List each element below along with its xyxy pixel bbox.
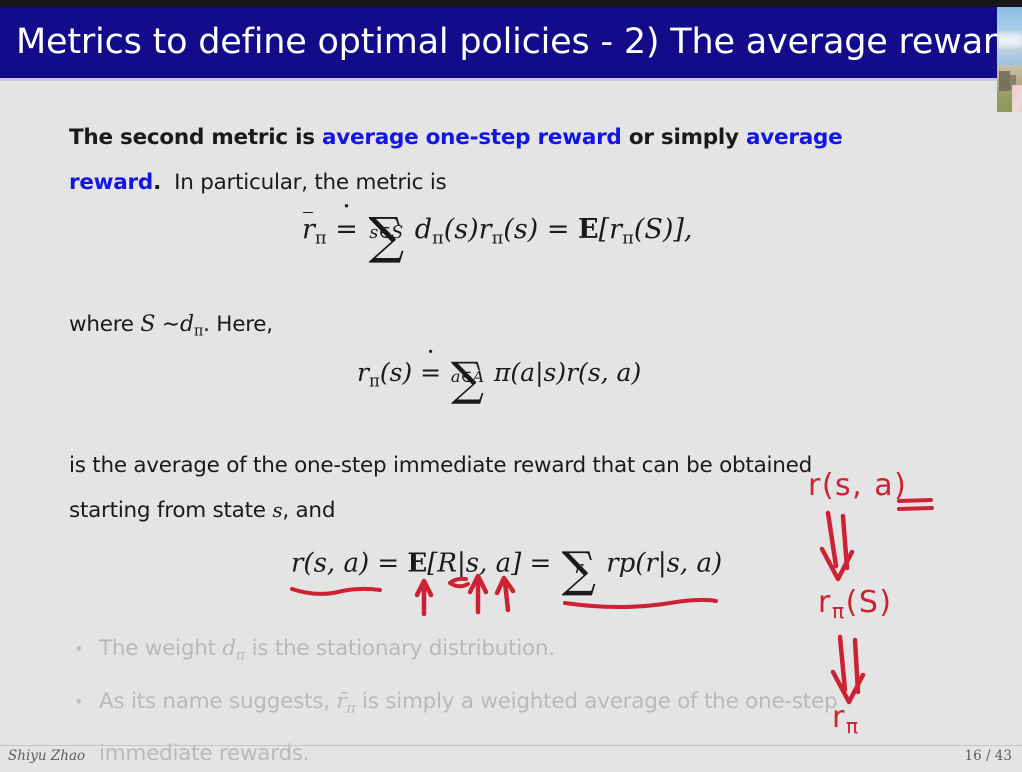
bullet-1-pre: The weight [99,636,222,661]
footer-author: Shiyu Zhao [8,748,85,764]
eq1-expect-tail: (S)], [634,214,693,245]
eq1-lhs-sub: π [315,228,327,249]
slide-content: The second metric is average one-step re… [0,81,1022,745]
intro-period: . [153,170,161,195]
where-var-d: dπ [180,312,203,337]
where-prefix: where [69,312,140,337]
equation-state-reward: rπ(s) = ∑a∈A π(a|s)r(s, a) [357,352,641,406]
eq2-reward-term: r(s, a) [566,358,641,387]
paragraph-intro: The second metric is average one-step re… [69,115,949,205]
eq2-relation: = [420,358,441,387]
eq3-summation-symbol: ∑r [562,542,596,598]
eq3-sum-limit: r [575,557,583,577]
title-bar: Metrics to define optimal policies - 2) … [0,7,997,78]
where-var-S: S [140,312,155,337]
paragraph-where: where S ∼dπ. Here, [69,302,569,355]
eq1-relation: = [335,214,358,245]
explanation-line2-post: , and [282,498,335,523]
eq2-sum-limit: a∈A [451,367,484,386]
eq1-term2-sub: π [492,228,504,249]
eq3-rhs: rp(r|s, a) [606,549,722,579]
list-item: The weight dπ is the stationary distribu… [69,626,949,679]
eq3-equals-2: = [530,549,552,579]
eq1-lhs: r [302,214,315,245]
bullet-1-post: is the stationary distribution. [245,636,555,661]
equation-average-reward: rπ = ∑s∈S dπ(s)rπ(s) = E[rπ(S)], [302,207,693,265]
eq2-lhs-arg: (s) [380,358,412,387]
eq1-equals: = [547,214,570,245]
top-black-strip [0,0,1022,7]
bullet-2-var: r̄ [336,689,346,714]
eq2-lhs-sub: π [369,371,380,390]
eq1-expectation-symbol: E [578,214,599,245]
footer-divider [0,745,1022,746]
eq2-lhs: r [357,358,369,387]
eq2-summation-symbol: ∑a∈A [451,352,484,406]
eq2-policy-term: π(a|s) [494,358,566,387]
eq1-term2-arg: (s) [503,214,538,245]
where-tilde: ∼ [162,312,180,337]
photo-cloud-region [997,33,1022,47]
paragraph-explanation: is the average of the one-step immediate… [69,443,949,533]
bullet-list: The weight dπ is the stationary distribu… [69,626,949,772]
slide-canvas: Metrics to define optimal policies - 2) … [0,0,1022,772]
eq1-term1: d [415,214,432,245]
footer-page-number: 16 / 43 [965,748,1013,764]
eq3-lhs: r(s, a) [291,549,369,579]
eq1-summation-symbol: ∑s∈S [368,207,404,265]
intro-mid: or simply [622,125,746,150]
eq1-sum-limit: s∈S [369,223,403,243]
eq1-term1-sub: π [432,228,444,249]
equation-reward-definition: r(s, a) = E[R|s, a] = ∑r rp(r|s, a) [291,542,722,598]
page-title: Metrics to define optimal policies - 2) … [16,22,1019,62]
intro-lead: The second metric is [69,125,322,150]
intro-tail: In particular, the metric is [174,170,446,195]
explanation-var-s: s [272,498,282,522]
list-item: As its name suggests, r̄π is simply a we… [69,679,949,772]
eq1-term1-arg: (s) [444,214,479,245]
eq1-expect-arg: [r [599,214,622,245]
eq3-expect-body: [R|s, a] [427,549,521,579]
bullet-1-var-sub: π [236,648,245,664]
eq1-expect-sub: π [622,228,634,249]
eq3-equals-1: = [377,549,399,579]
eq3-expectation-symbol: E [407,549,427,579]
bullet-2-pre: As its name suggests, [99,689,336,714]
where-suffix: . Here, [203,312,273,337]
explanation-line1: is the average of the one-step immediate… [69,453,812,478]
eq1-term2: r [479,214,492,245]
bullet-1-var: d [222,636,236,661]
keyword-average-one-step-reward: average one-step reward [322,125,622,150]
explanation-line2-pre: starting from state [69,498,272,523]
